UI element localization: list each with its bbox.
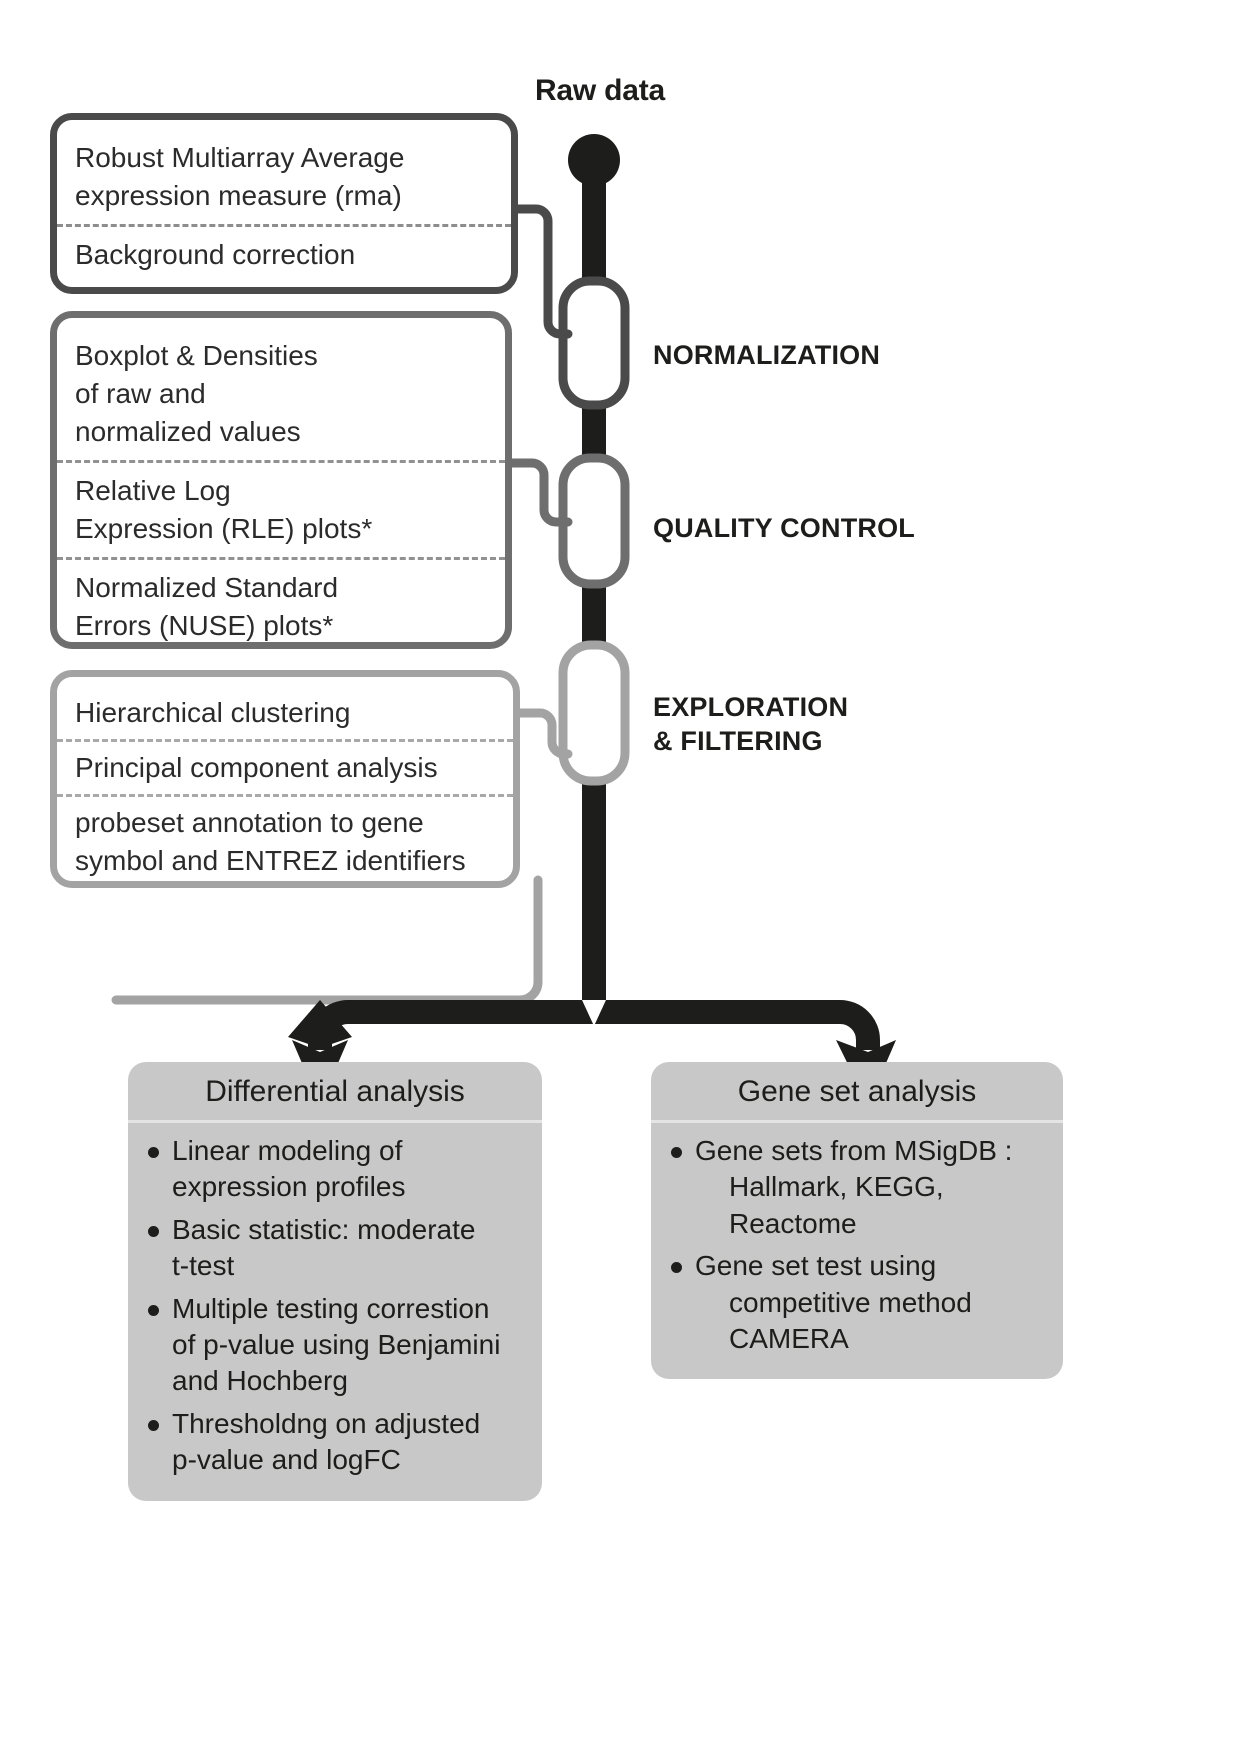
list-item-text: Gene set test using (695, 1250, 936, 1281)
page-title: Raw data (450, 74, 750, 108)
stage-label-exploration: EXPLORATION& FILTERING (653, 690, 848, 758)
list-item-continuation: of p-value using Benjamini (172, 1327, 528, 1363)
list-item: Linear modeling ofexpression profiles (142, 1133, 528, 1206)
list-item-continuation: competitive method (695, 1285, 1049, 1321)
stage-label-normalization: NORMALIZATION (653, 338, 880, 372)
stage-box-normalization-rows: Robust Multiarray Averageexpression meas… (57, 120, 511, 293)
list-item: Thresholdng on adjustedp-value and logFC (142, 1406, 528, 1479)
list-item-text: Basic statistic: moderate (172, 1214, 475, 1245)
stage-row: probeset annotation to genesymbol and EN… (57, 794, 513, 887)
stage-box-exploration[interactable]: Hierarchical clustering Principal compon… (50, 670, 520, 888)
stage-label-quality-control: QUALITY CONTROL (653, 511, 915, 545)
stage-box-quality-control[interactable]: Boxplot & Densitiesof raw andnormalized … (50, 311, 512, 649)
bullet-icon (148, 1305, 159, 1316)
stage-box-normalization[interactable]: Robust Multiarray Averageexpression meas… (50, 113, 518, 294)
result-panel-gene-set-analysis[interactable]: Gene set analysis Gene sets from MSigDB … (651, 1062, 1063, 1379)
node-quality-control (512, 458, 625, 584)
list-item-continuation: expression profiles (172, 1169, 528, 1205)
list-item-text: Multiple testing correstion (172, 1293, 489, 1324)
node-normalization (516, 209, 625, 405)
list-item-continuation: Reactome (695, 1206, 1049, 1242)
bullet-icon (148, 1147, 159, 1158)
list-item-continuation: p-value and logFC (172, 1442, 528, 1478)
list-item: Gene set test usingcompetitive methodCAM… (665, 1248, 1049, 1357)
result-panel-differential-analysis[interactable]: Differential analysis Linear modeling of… (128, 1062, 542, 1501)
stage-row: Principal component analysis (57, 739, 513, 794)
stage-box-quality-control-rows: Boxplot & Densitiesof raw andnormalized … (57, 318, 505, 665)
result-item-list: Gene sets from MSigDB :Hallmark, KEGG,Re… (651, 1123, 1063, 1379)
main-spine (568, 134, 620, 910)
list-item-text: Gene sets from MSigDB : (695, 1135, 1012, 1166)
stage-box-exploration-rows: Hierarchical clustering Principal compon… (57, 677, 513, 897)
result-panel-title: Gene set analysis (651, 1062, 1063, 1123)
list-item: Gene sets from MSigDB :Hallmark, KEGG,Re… (665, 1133, 1049, 1242)
list-item-continuation: Hallmark, KEGG, (695, 1169, 1049, 1205)
bullet-icon (671, 1262, 682, 1273)
list-item-continuation: CAMERA (695, 1321, 1049, 1357)
result-panel-title: Differential analysis (128, 1062, 542, 1123)
list-item-continuation: and Hochberg (172, 1363, 528, 1399)
bullet-icon (148, 1420, 159, 1431)
stage-row: Background correction (57, 224, 511, 283)
list-item-text: Thresholdng on adjusted (172, 1408, 480, 1439)
list-item: Multiple testing correstionof p-value us… (142, 1291, 528, 1400)
stage-row: Relative LogExpression (RLE) plots* (57, 460, 505, 557)
stage-row: Hierarchical clustering (57, 687, 513, 739)
result-item-list: Linear modeling ofexpression profilesBas… (128, 1123, 542, 1501)
list-item-continuation: t-test (172, 1248, 528, 1284)
diagram-canvas: Raw data Robust Multiarray Averageexpres… (0, 0, 1240, 1753)
bullet-icon (671, 1147, 682, 1158)
stage-row: Boxplot & Densitiesof raw andnormalized … (57, 328, 505, 460)
list-item: Basic statistic: moderatet-test (142, 1212, 528, 1285)
list-item-text: Linear modeling of (172, 1135, 402, 1166)
bullet-icon (148, 1226, 159, 1237)
stage-row: Robust Multiarray Averageexpression meas… (57, 130, 511, 224)
stage-row: Normalized StandardErrors (NUSE) plots* (57, 557, 505, 654)
